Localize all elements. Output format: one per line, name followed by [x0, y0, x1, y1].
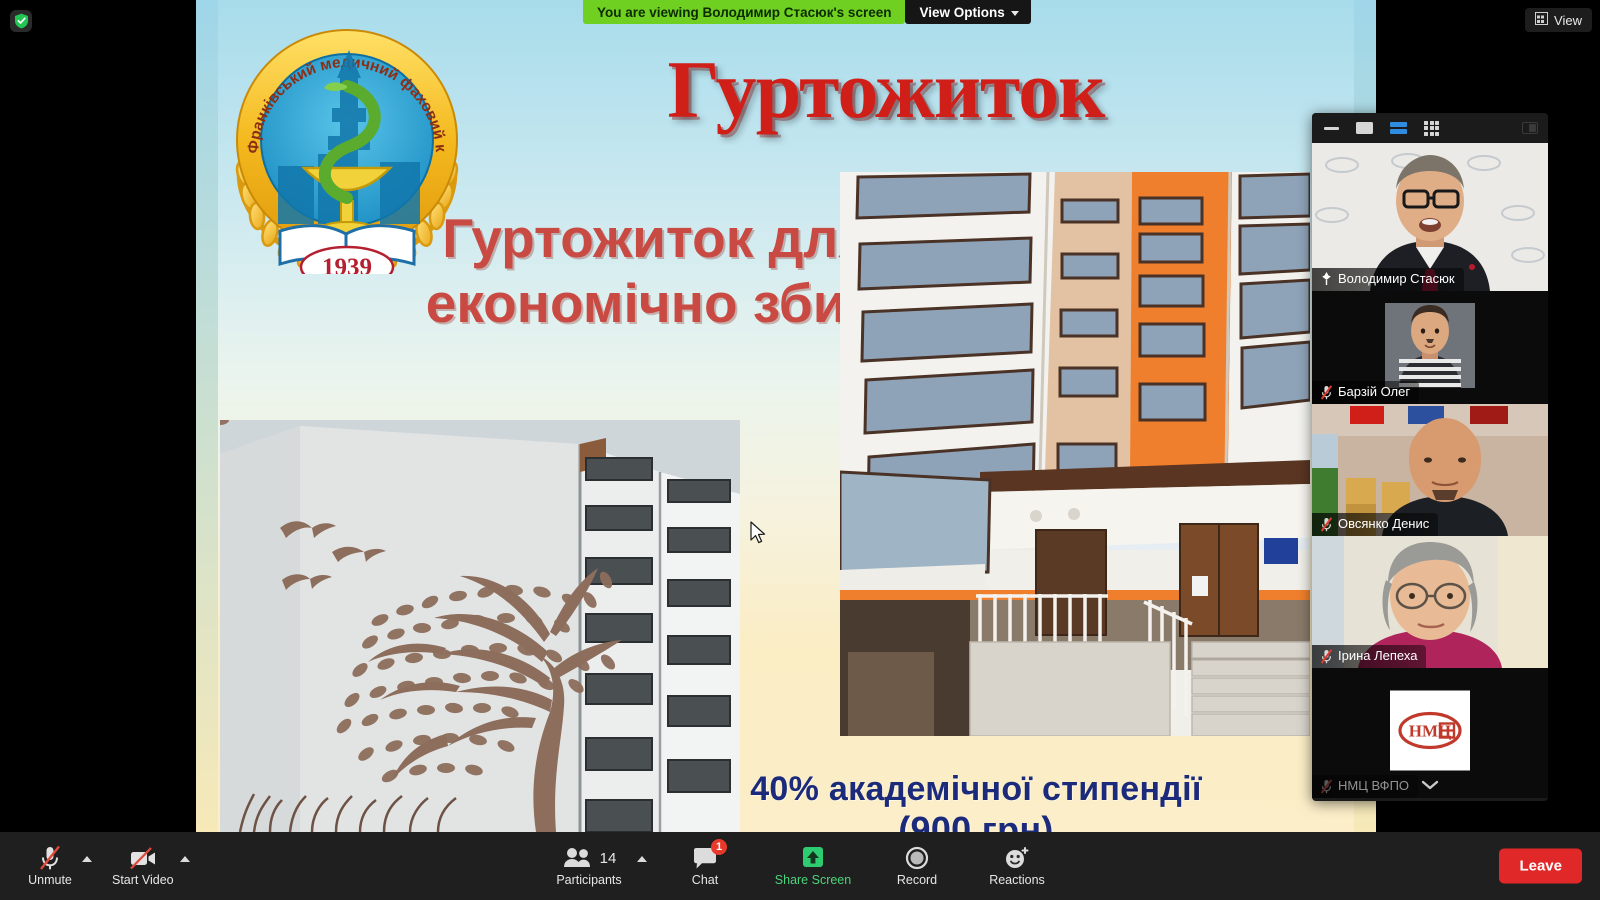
chevron-down-icon — [1011, 11, 1019, 16]
participant-tile[interactable]: Овсянко Денис — [1312, 404, 1548, 536]
participants-label: Participants — [556, 874, 621, 887]
grid-view-icon — [1535, 12, 1548, 28]
participant-filmstrip[interactable]: Володимир Стасюк — [1312, 113, 1548, 801]
video-off-icon — [129, 845, 157, 871]
view-button-label: View — [1554, 13, 1582, 28]
muted-mic-icon — [1321, 649, 1332, 664]
video-options-chevron-up-icon[interactable] — [180, 856, 190, 862]
slide-note: 40% академічної стипендії (900 грн) — [626, 770, 1326, 832]
unmute-button[interactable]: Unmute — [18, 845, 82, 887]
participant-tile[interactable]: НМЦ НМЦ ВФПО — [1312, 668, 1548, 798]
participant-nameplate: Овсянко Денис — [1312, 513, 1438, 536]
participant-name: Ірина Лепеха — [1338, 648, 1417, 664]
participant-tile[interactable]: Ірина Лепеха — [1312, 536, 1548, 668]
meeting-toolbar: Unmute Start Video — [0, 832, 1600, 900]
muted-mic-icon — [1321, 517, 1332, 532]
unmute-label: Unmute — [28, 874, 72, 887]
chat-label: Chat — [692, 874, 718, 887]
popout-icon[interactable] — [1522, 122, 1538, 134]
view-options-button[interactable]: View Options — [905, 0, 1030, 24]
slide-note-line2: (900 грн) — [626, 809, 1326, 832]
start-video-label: Start Video — [112, 874, 174, 887]
speaker-view-icon[interactable] — [1356, 122, 1373, 134]
reactions-label: Reactions — [989, 874, 1045, 887]
participant-nameplate: Барзій Олег — [1312, 381, 1419, 404]
viewing-screen-label: You are viewing Володимир Стасюк's scree… — [583, 0, 905, 24]
participants-count: 14 — [600, 850, 617, 867]
chat-unread-badge: 1 — [711, 839, 727, 855]
record-label: Record — [897, 874, 937, 887]
svg-text:1939: 1939 — [322, 254, 372, 274]
participant-name: Володимир Стасюк — [1338, 271, 1455, 287]
screen-share-banner: You are viewing Володимир Стасюк's scree… — [583, 0, 1031, 24]
reactions-button[interactable]: Reactions — [975, 832, 1059, 900]
mic-muted-icon — [39, 845, 61, 871]
mouse-cursor — [750, 521, 768, 552]
share-screen-label: Share Screen — [775, 874, 851, 887]
participant-avatar: НМЦ — [1390, 691, 1470, 776]
share-screen-icon — [800, 845, 826, 871]
record-button[interactable]: Record — [885, 832, 949, 900]
view-layout-button[interactable]: View — [1525, 8, 1592, 32]
leave-button[interactable]: Leave — [1499, 849, 1582, 884]
participant-nameplate: Ірина Лепеха — [1312, 645, 1426, 668]
participant-name: Барзій Олег — [1338, 384, 1410, 400]
view-options-label: View Options — [919, 5, 1004, 20]
chat-button[interactable]: 1 Chat — [673, 832, 737, 900]
participants-chevron-up-icon[interactable] — [637, 856, 647, 862]
chat-icon: 1 — [692, 845, 718, 871]
participant-name: Овсянко Денис — [1338, 516, 1429, 532]
presentation-slide: Івано-Франківський медичний фаховий коле… — [196, 0, 1376, 832]
share-screen-button[interactable]: Share Screen — [767, 832, 859, 900]
pin-icon — [1321, 272, 1332, 287]
participant-tile[interactable]: Володимир Стасюк — [1312, 143, 1548, 291]
filmstrip-layout-controls — [1312, 113, 1548, 143]
participants-icon: 14 — [562, 845, 617, 871]
participant-tile[interactable]: Барзій Олег — [1312, 291, 1548, 404]
audio-options-chevron-up-icon[interactable] — [82, 856, 92, 862]
minimize-icon[interactable] — [1324, 127, 1339, 130]
slide-title: Гуртожиток — [566, 48, 1206, 132]
participant-video — [1385, 303, 1475, 393]
shared-screen-area[interactable]: Івано-Франківський медичний фаховий коле… — [196, 0, 1376, 832]
muted-mic-icon — [1321, 385, 1332, 400]
participants-button[interactable]: 14 Participants — [541, 832, 637, 900]
filmstrip-scroll-down-button[interactable] — [1312, 774, 1548, 796]
encryption-shield-icon[interactable] — [10, 10, 32, 32]
record-icon — [905, 845, 929, 871]
gallery-view-icon[interactable] — [1424, 121, 1439, 136]
reactions-icon — [1004, 845, 1030, 871]
start-video-button[interactable]: Start Video — [106, 845, 180, 887]
strip-view-icon[interactable] — [1390, 122, 1407, 135]
zoom-meeting-window: Івано-Франківський медичний фаховий коле… — [0, 0, 1600, 900]
participant-nameplate: Володимир Стасюк — [1312, 268, 1464, 291]
dormitory-entrance-photo — [840, 172, 1310, 736]
slide-note-line1: 40% академічної стипендії — [750, 770, 1202, 808]
